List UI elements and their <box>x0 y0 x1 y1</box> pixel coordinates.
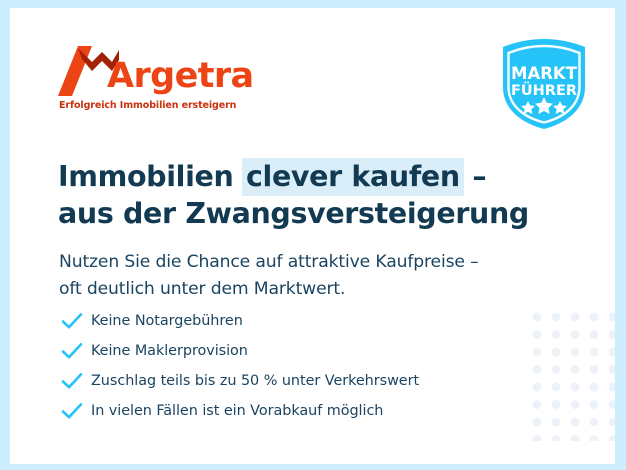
list-item-label: In vielen Fällen ist ein Vorabkauf mögli… <box>91 403 383 419</box>
badge-line1: MARKT <box>511 64 578 83</box>
headline-suffix: – <box>463 160 486 193</box>
list-item: Keine Notargebühren <box>61 306 531 336</box>
promo-banner: Argetra Erfolgreich Immobilien ersteiger… <box>0 0 626 470</box>
list-item-label: Keine Maklerprovision <box>91 343 248 359</box>
page-title: Immobilien clever kaufen – aus der Zwang… <box>58 158 588 232</box>
list-item: Zuschlag teils bis zu 50 % unter Verkehr… <box>61 366 531 396</box>
badge-line2: FÜHRER <box>511 81 577 99</box>
list-item: In vielen Fällen ist ein Vorabkauf mögli… <box>61 396 531 426</box>
subheading-line-2: oft deutlich unter dem Marktwert. <box>59 279 345 299</box>
check-icon <box>61 371 91 391</box>
list-item-label: Zuschlag teils bis zu 50 % unter Verkehr… <box>91 373 419 389</box>
headline-prefix: Immobilien <box>58 160 243 193</box>
list-item-label: Keine Notargebühren <box>91 313 243 329</box>
marktfuehrer-badge: MARKT FÜHRER <box>499 37 589 131</box>
logo-tagline: Erfolgreich Immobilien ersteigern <box>59 100 236 111</box>
check-icon <box>61 311 91 331</box>
headline-line-2: aus der Zwangsversteigerung <box>58 197 529 230</box>
banner-canvas: Argetra Erfolgreich Immobilien ersteiger… <box>10 8 615 464</box>
check-icon <box>61 341 91 361</box>
subheading: Nutzen Sie die Chance auf attraktive Kau… <box>59 249 579 303</box>
headline-highlight: clever kaufen <box>242 158 464 196</box>
subheading-line-1: Nutzen Sie die Chance auf attraktive Kau… <box>59 252 479 272</box>
logo-wordmark: Argetra <box>107 59 254 94</box>
argetra-logo[interactable]: Argetra Erfolgreich Immobilien ersteiger… <box>58 41 258 116</box>
benefits-list: Keine Notargebühren Keine Maklerprovisio… <box>61 306 531 426</box>
headline-line-1: Immobilien clever kaufen – <box>58 160 486 193</box>
dot-grid-decoration-icon <box>531 311 615 441</box>
list-item: Keine Maklerprovision <box>61 336 531 366</box>
check-icon <box>61 401 91 421</box>
